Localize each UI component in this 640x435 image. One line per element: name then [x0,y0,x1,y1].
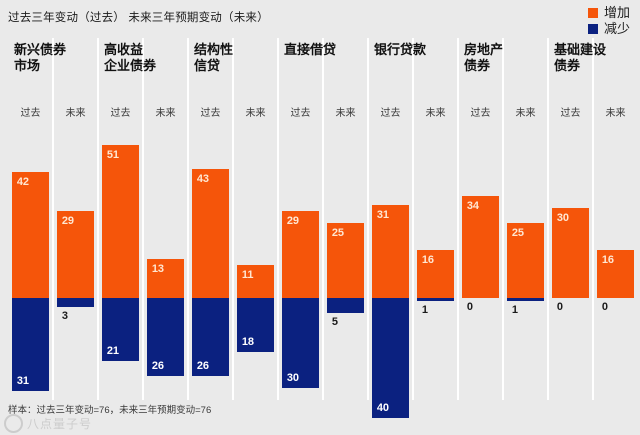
bar-value-decrease: 1 [512,304,518,316]
bar-value-increase: 29 [62,215,74,227]
sub-label-未来: 未来 [323,104,368,119]
plot-area: 新兴债券 市场高收益 企业债券结构性 信贷直接借贷银行贷款房地产 债券基础建设 … [0,38,640,400]
sub-label-未来: 未来 [143,104,188,119]
sub-label-未来: 未来 [233,104,278,119]
group-title-5: 银行贷款 [374,42,454,58]
sub-label-未来: 未来 [413,104,458,119]
bar-value-decrease: 18 [242,336,254,348]
sub-label-未来: 未来 [53,104,98,119]
circle-logo-icon [4,414,23,433]
bar-increase [102,145,139,298]
bar-value-decrease: 0 [602,301,608,313]
bar-value-increase: 51 [107,149,119,161]
bar-value-increase: 29 [287,215,299,227]
sub-label-过去: 过去 [548,104,593,119]
column-separator [502,38,504,400]
sub-label-过去: 过去 [368,104,413,119]
sub-label-过去: 过去 [458,104,503,119]
column-separator [52,38,54,400]
bar-value-decrease: 26 [152,360,164,372]
bar-value-decrease: 30 [287,372,299,384]
column-separator [277,38,279,400]
bar-decrease [57,298,94,307]
group-title-7: 基础建设 债券 [554,42,634,75]
column-separator [187,38,189,400]
square-swatch-orange-icon [588,8,598,18]
legend-label-increase: 增加 [604,6,630,19]
chart-container: 过去三年变动（过去） 未来三年预期变动（未来） 增加 减少 新兴债券 市场高收益… [0,0,640,435]
bar-value-increase: 16 [422,254,434,266]
bar-value-decrease: 5 [332,316,338,328]
column-separator [547,38,549,400]
bar-value-decrease: 1 [422,304,428,316]
bar-value-decrease: 21 [107,345,119,357]
bar-increase [12,172,49,298]
bar-value-increase: 42 [17,176,29,188]
column-separator [367,38,369,400]
bar-value-increase: 11 [242,269,254,281]
bar-value-increase: 43 [197,173,209,185]
sub-label-未来: 未来 [593,104,638,119]
bar-value-increase: 13 [152,263,164,275]
bar-decrease [507,298,544,301]
group-title-1: 新兴债券 市场 [14,42,94,75]
bar-value-decrease: 31 [17,375,29,387]
column-separator [592,38,594,400]
bar-value-increase: 31 [377,209,389,221]
bar-decrease [417,298,454,301]
column-separator [97,38,99,400]
bar-value-increase: 34 [467,200,479,212]
chart-header-note: 过去三年变动（过去） 未来三年预期变动（未来） [8,9,269,25]
legend-item-decrease: 减少 [588,22,630,35]
sub-label-过去: 过去 [188,104,233,119]
group-title-4: 直接借贷 [284,42,364,58]
bar-value-increase: 16 [602,254,614,266]
bar-value-decrease: 26 [197,360,209,372]
legend-label-decrease: 减少 [604,22,630,35]
bar-increase [192,169,229,298]
watermark-text: 八点量子号 [27,415,92,432]
group-title-3: 结构性 信贷 [194,42,274,75]
bar-value-increase: 30 [557,212,569,224]
chart-legend: 增加 减少 [588,6,630,38]
bar-value-decrease: 3 [62,310,68,322]
bar-value-increase: 25 [512,227,524,239]
watermark: 八点量子号 [4,414,92,433]
bar-value-decrease: 40 [377,402,389,414]
sub-label-过去: 过去 [98,104,143,119]
bar-value-decrease: 0 [557,301,563,313]
bar-value-decrease: 0 [467,301,473,313]
column-separator [322,38,324,400]
sub-label-过去: 过去 [8,104,53,119]
column-separator [457,38,459,400]
bar-decrease [372,298,409,418]
legend-item-increase: 增加 [588,6,630,19]
group-title-6: 房地产 债券 [464,42,544,75]
sub-label-未来: 未来 [503,104,548,119]
group-title-2: 高收益 企业债券 [104,42,184,75]
bar-value-increase: 25 [332,227,344,239]
square-swatch-blue-icon [588,24,598,34]
column-separator [232,38,234,400]
column-separator [142,38,144,400]
column-separator [412,38,414,400]
bar-decrease [327,298,364,313]
sub-label-过去: 过去 [278,104,323,119]
